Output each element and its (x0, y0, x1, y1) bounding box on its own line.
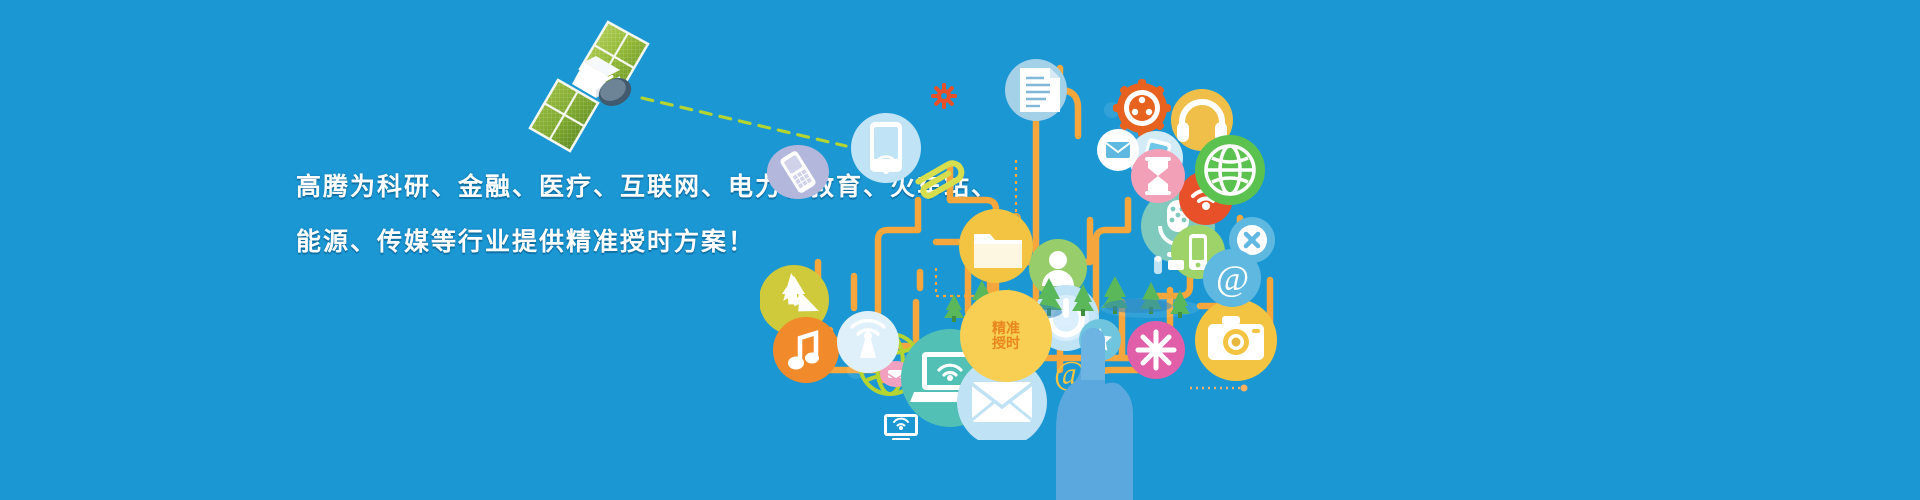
hand-finger (1081, 328, 1105, 380)
gear-icon (931, 83, 957, 109)
hourglass-icon (1131, 149, 1185, 203)
pointing-hand (1026, 318, 1146, 500)
hub-label: 精准 授时 (981, 321, 1031, 351)
music-note-icon (773, 317, 839, 383)
at-circle-icon: @ (1203, 249, 1261, 307)
hub-label-line2: 授时 (992, 335, 1020, 351)
smartphone-icon (767, 145, 829, 199)
mail-small-icon (1097, 129, 1139, 171)
settings-gear-icon (1113, 79, 1171, 137)
tablet-wifi-icon (851, 113, 921, 183)
camera-icon (1195, 299, 1277, 381)
paperclip-icon (918, 160, 965, 198)
folder-icon (959, 209, 1033, 283)
document-icon (1005, 59, 1067, 121)
hero-banner: 高腾为科研、金融、医疗、互联网、电力、教育、火车站、 能源、传媒等行业提供精准授… (0, 0, 1920, 500)
svg-text:@: @ (1216, 258, 1249, 298)
dot-endpoint (1241, 385, 1248, 392)
hub-label-line1: 精准 (992, 320, 1020, 336)
world-globe-icon (1195, 135, 1265, 205)
broadcast-icon (837, 311, 899, 373)
monitor-wifi-icon (884, 414, 918, 440)
